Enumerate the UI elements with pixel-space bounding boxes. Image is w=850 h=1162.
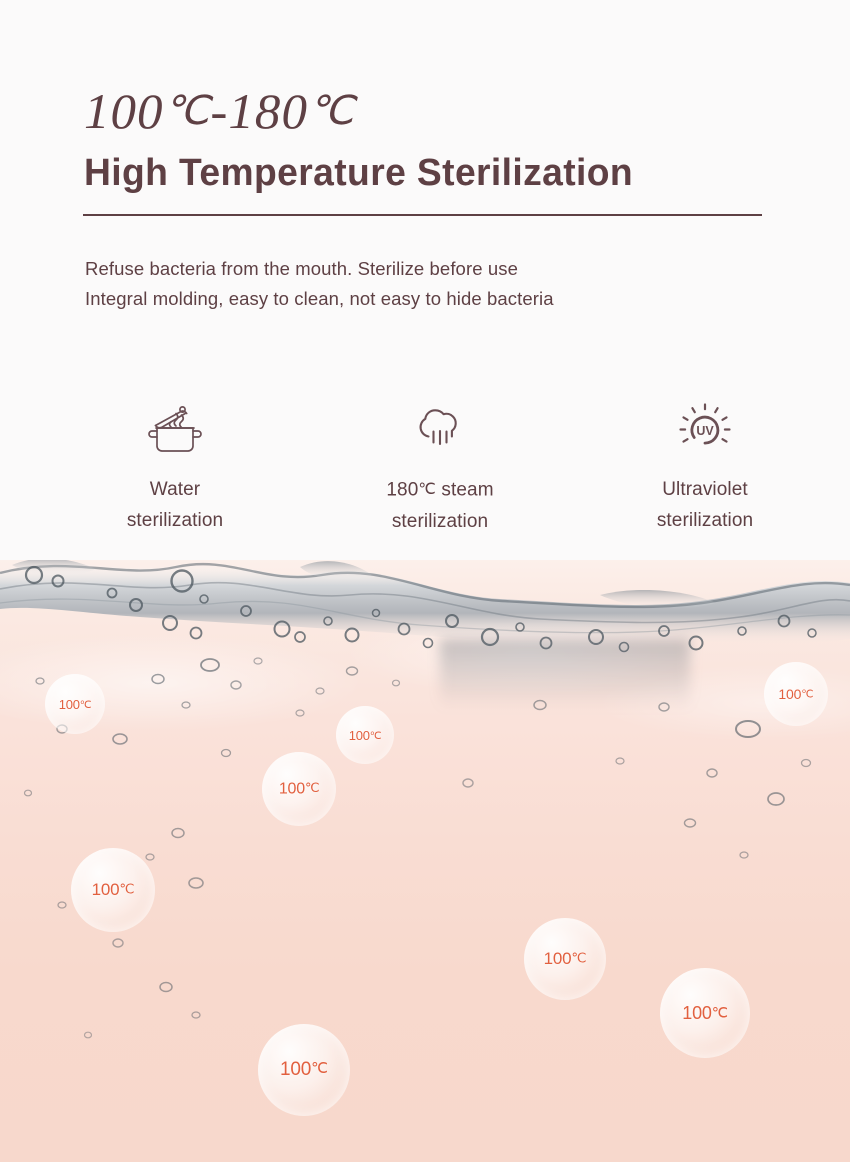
steaming-pot-icon <box>145 398 205 460</box>
feature-list: Water sterilization 18 <box>60 398 820 543</box>
feature-uv-sterilization-label: Ultraviolet sterilization <box>657 474 753 536</box>
temperature-bubble: 100℃ <box>258 1024 350 1116</box>
temperature-bubble-label: 100℃ <box>280 1059 328 1081</box>
temperature-bubble-label: 100℃ <box>59 697 92 712</box>
steam-cloud-icon <box>411 398 469 460</box>
temperature-range-heading: 100℃-180℃ <box>84 82 355 140</box>
temperature-bubble: 100℃ <box>262 752 336 826</box>
feature-label-line-1: Water <box>127 474 223 505</box>
uv-sun-icon: UV <box>676 398 734 460</box>
title-divider <box>83 214 762 216</box>
temperature-bubble: 100℃ <box>45 674 105 734</box>
temperature-bubble-label: 100℃ <box>544 949 587 969</box>
temperature-bubble-label: 100℃ <box>279 780 319 799</box>
temperature-range-text: 100℃-180℃ <box>84 83 355 139</box>
feature-steam-sterilization-label: 180℃ steam sterilization <box>386 474 493 537</box>
feature-uv-sterilization: UV Ultraviolet sterilization <box>590 398 820 536</box>
temperature-bubble-label: 100℃ <box>778 686 813 702</box>
product-marketing-image: 100℃-180℃ High Temperature Sterilization… <box>0 0 850 1162</box>
temperature-bubble: 100℃ <box>524 918 606 1000</box>
feature-water-sterilization-label: Water sterilization <box>127 474 223 536</box>
description-line-1: Refuse bacteria from the mouth. Steriliz… <box>85 254 785 284</box>
feature-label-line-2: sterilization <box>386 506 493 537</box>
temperature-bubble: 100℃ <box>660 968 750 1058</box>
temperature-bubble-label: 100℃ <box>349 728 382 743</box>
header-panel: 100℃-180℃ High Temperature Sterilization… <box>0 0 850 560</box>
feature-label-line-1: Ultraviolet <box>657 474 753 505</box>
page-title: High Temperature Sterilization <box>84 152 633 195</box>
temperature-bubble: 100℃ <box>336 706 394 764</box>
svg-text:UV: UV <box>696 424 714 438</box>
temperature-bubble: 100℃ <box>71 848 155 932</box>
feature-steam-sterilization: 180℃ steam sterilization <box>325 398 555 537</box>
temperature-bubble-label: 100℃ <box>92 880 135 900</box>
feature-water-sterilization: Water sterilization <box>60 398 290 536</box>
temperature-bubble: 100℃ <box>764 662 828 726</box>
description-block: Refuse bacteria from the mouth. Steriliz… <box>85 254 785 314</box>
feature-label-line-1: 180℃ steam <box>386 474 493 506</box>
feature-label-line-2: sterilization <box>127 505 223 536</box>
feature-label-line-2: sterilization <box>657 505 753 536</box>
description-line-2: Integral molding, easy to clean, not eas… <box>85 284 785 314</box>
temperature-bubble-label: 100℃ <box>682 1003 727 1024</box>
